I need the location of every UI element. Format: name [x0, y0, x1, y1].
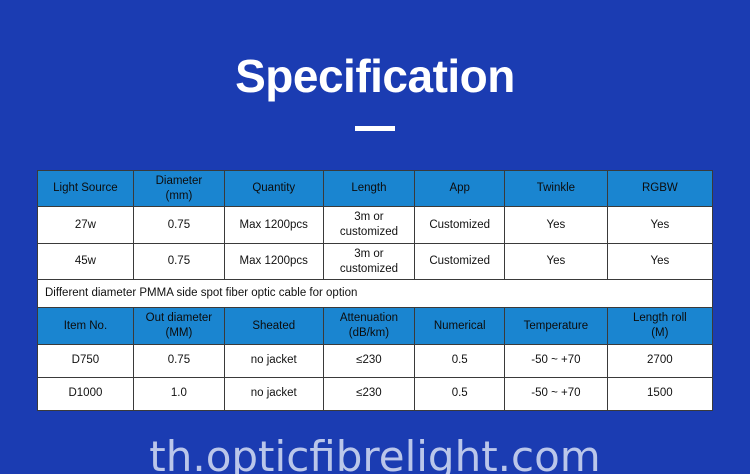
header-sublabel: (MM): [136, 326, 222, 341]
column-header-length: Length: [323, 171, 415, 207]
column-header-quantity: Quantity: [224, 171, 323, 207]
column-header-numerical: Numerical: [415, 308, 505, 344]
column-header-light-source: Light Source: [38, 171, 134, 207]
cell-temperature: -50 ~ +70: [505, 344, 608, 377]
header-label: Light Source: [53, 182, 118, 194]
cell-sheated: no jacket: [224, 344, 323, 377]
page-title: Specification: [0, 52, 750, 100]
specification-tables: Light Source Diameter (mm) Quantity Leng…: [37, 170, 713, 411]
table-one-header-row: Light Source Diameter (mm) Quantity Leng…: [38, 171, 713, 207]
cell-sheated: no jacket: [224, 377, 323, 410]
column-header-diameter: Diameter (mm): [133, 171, 224, 207]
header-label: App: [449, 182, 469, 194]
column-header-app: App: [415, 171, 505, 207]
cell-temperature: -50 ~ +70: [505, 377, 608, 410]
header-label: Length: [351, 182, 386, 194]
header-label: Length roll: [633, 312, 687, 324]
cell-item-no: D750: [38, 344, 134, 377]
cell-length-main: 3m or: [354, 211, 383, 223]
cell-numerical: 0.5: [415, 344, 505, 377]
cell-out-diameter: 0.75: [133, 344, 224, 377]
specification-table: Light Source Diameter (mm) Quantity Leng…: [37, 170, 713, 411]
cell-out-diameter: 1.0: [133, 377, 224, 410]
cell-rgbw: Yes: [607, 207, 712, 243]
title-divider: [355, 126, 395, 131]
cell-quantity: Max 1200pcs: [224, 243, 323, 279]
table-row: D1000 1.0 no jacket ≤230 0.5 -50 ~ +70 1…: [38, 377, 713, 410]
cell-length: 3m or customized: [323, 243, 415, 279]
cell-app: Customized: [415, 207, 505, 243]
cell-diameter: 0.75: [133, 243, 224, 279]
column-header-rgbw: RGBW: [607, 171, 712, 207]
cell-item-no: D1000: [38, 377, 134, 410]
table-two-header-row: Item No. Out diameter (MM) Sheated Atten…: [38, 308, 713, 344]
cell-length-main: 3m or: [354, 248, 383, 260]
header-label: Diameter: [156, 175, 203, 187]
column-header-out-diameter: Out diameter (MM): [133, 308, 224, 344]
table-row: D750 0.75 no jacket ≤230 0.5 -50 ~ +70 2…: [38, 344, 713, 377]
header-label: Quantity: [252, 182, 295, 194]
cell-quantity: Max 1200pcs: [224, 207, 323, 243]
header-label: Attenuation: [340, 312, 398, 324]
header-label: Twinkle: [537, 182, 575, 194]
title-block: Specification: [0, 0, 750, 131]
site-watermark: th.opticfibrelight.com: [0, 436, 750, 474]
table-row: 27w 0.75 Max 1200pcs 3m or customized Cu…: [38, 207, 713, 243]
header-label: Out diameter: [146, 312, 212, 324]
cell-twinkle: Yes: [505, 243, 608, 279]
cell-twinkle: Yes: [505, 207, 608, 243]
cell-diameter: 0.75: [133, 207, 224, 243]
header-label: Item No.: [64, 320, 107, 332]
header-label: Numerical: [434, 320, 486, 332]
column-header-temperature: Temperature: [505, 308, 608, 344]
cell-light-source: 45w: [38, 243, 134, 279]
column-header-length-roll: Length roll (M): [607, 308, 712, 344]
header-label: RGBW: [642, 182, 678, 194]
cell-attenuation: ≤230: [323, 344, 415, 377]
cell-length-roll: 2700: [607, 344, 712, 377]
header-label: Sheated: [252, 320, 295, 332]
note-text: Different diameter PMMA side spot fiber …: [38, 280, 713, 308]
column-header-twinkle: Twinkle: [505, 171, 608, 207]
header-label: Temperature: [524, 320, 589, 332]
header-sublabel: (M): [610, 326, 710, 341]
cell-length-roll: 1500: [607, 377, 712, 410]
header-sublabel: (mm): [136, 189, 222, 204]
note-row: Different diameter PMMA side spot fiber …: [38, 280, 713, 308]
column-header-attenuation: Attenuation (dB/km): [323, 308, 415, 344]
header-sublabel: (dB/km): [326, 326, 413, 341]
column-header-sheated: Sheated: [224, 308, 323, 344]
table-row: 45w 0.75 Max 1200pcs 3m or customized Cu…: [38, 243, 713, 279]
cell-rgbw: Yes: [607, 243, 712, 279]
cell-attenuation: ≤230: [323, 377, 415, 410]
cell-numerical: 0.5: [415, 377, 505, 410]
cell-length: 3m or customized: [323, 207, 415, 243]
column-header-item-no: Item No.: [38, 308, 134, 344]
cell-length-sub: customized: [326, 225, 413, 240]
cell-app: Customized: [415, 243, 505, 279]
cell-light-source: 27w: [38, 207, 134, 243]
cell-length-sub: customized: [326, 262, 413, 277]
